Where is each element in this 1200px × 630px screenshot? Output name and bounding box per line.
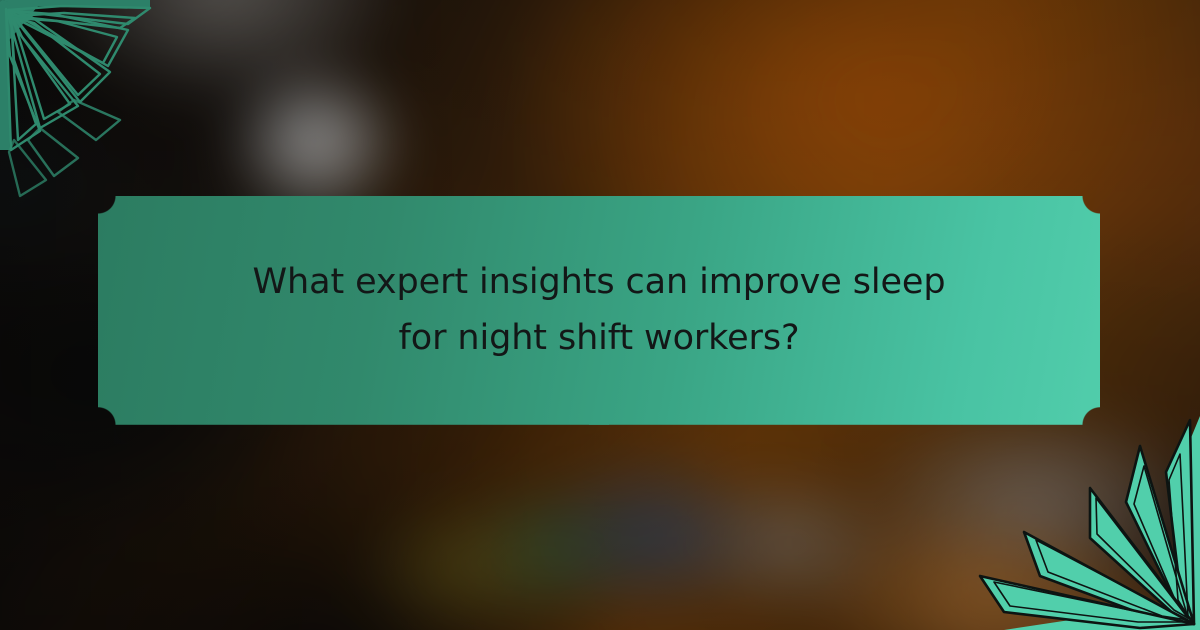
headline-banner: What expert insights can improve sleep f… — [98, 196, 1100, 425]
page-title: What expert insights can improve sleep f… — [229, 255, 969, 366]
question-card-canvas: What expert insights can improve sleep f… — [0, 0, 1200, 630]
headline-banner-content: What expert insights can improve sleep f… — [98, 196, 1100, 425]
